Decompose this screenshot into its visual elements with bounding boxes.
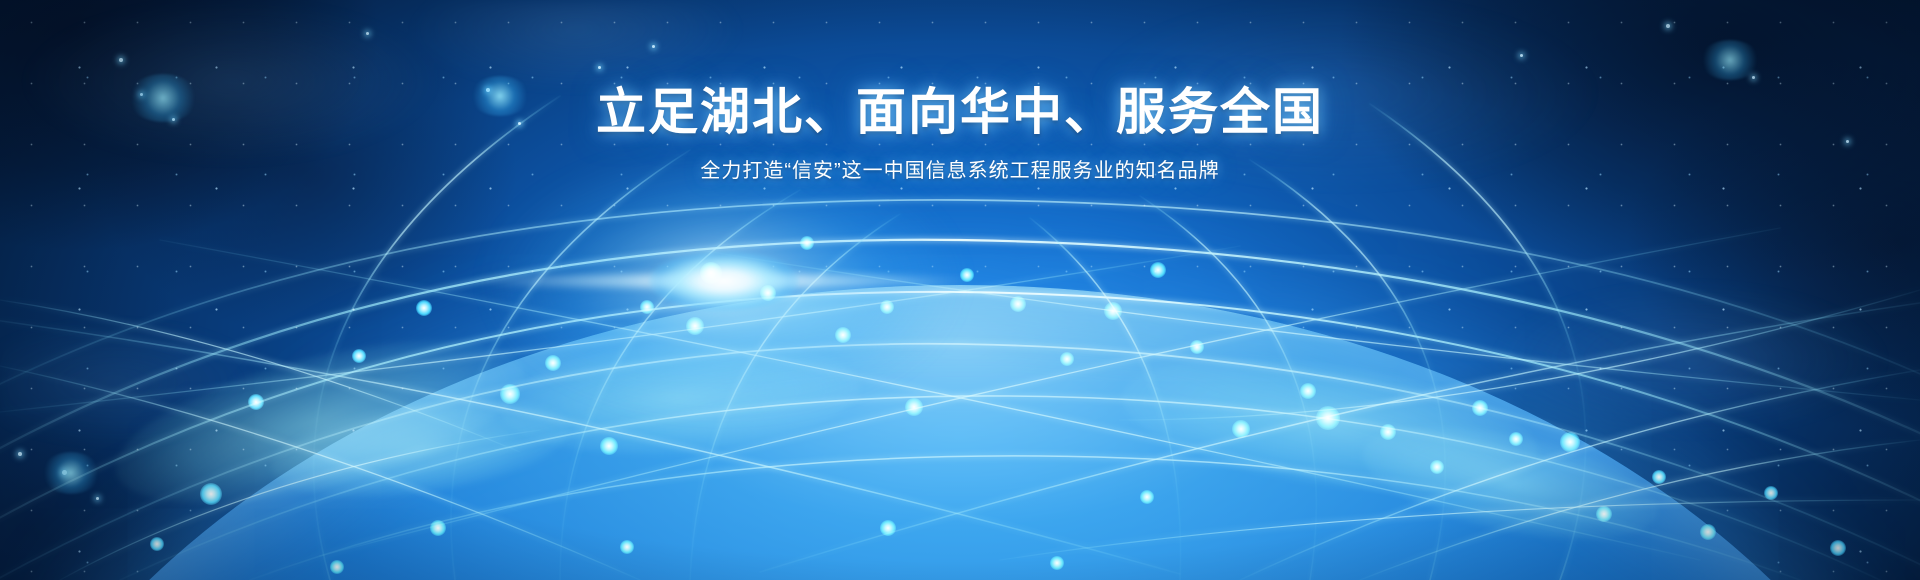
page-subtitle: 全力打造“信安”这一中国信息系统工程服务业的知名品牌: [0, 158, 1920, 184]
page-title: 立足湖北、面向华中、服务全国: [0, 84, 1920, 140]
hero-banner: 立足湖北、面向华中、服务全国 全力打造“信安”这一中国信息系统工程服务业的知名品…: [0, 0, 1920, 580]
hero-text-block: 立足湖北、面向华中、服务全国 全力打造“信安”这一中国信息系统工程服务业的知名品…: [0, 84, 1920, 184]
